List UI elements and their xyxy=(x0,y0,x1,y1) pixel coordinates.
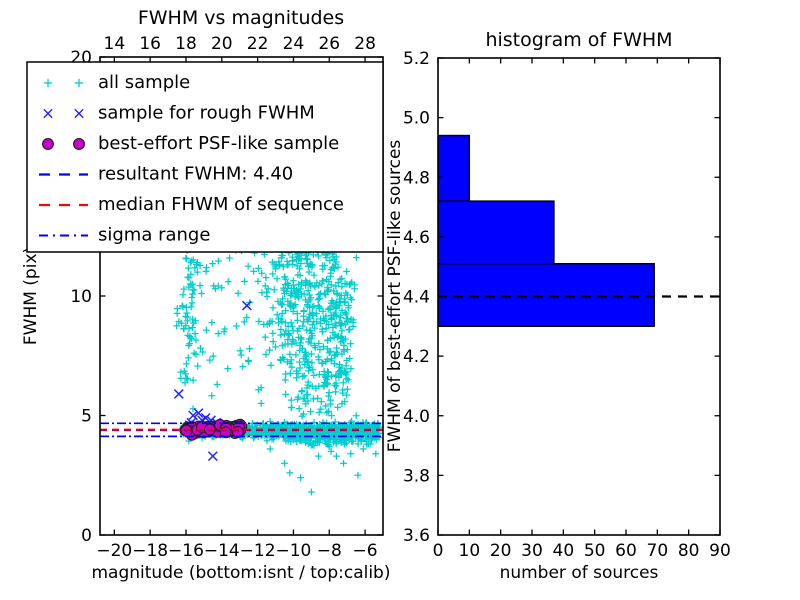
svg-text:16: 16 xyxy=(139,34,161,54)
svg-text:0: 0 xyxy=(81,526,92,546)
svg-text:28: 28 xyxy=(354,34,376,54)
legend-item-label: all sample xyxy=(98,72,190,93)
svg-text:22: 22 xyxy=(247,34,269,54)
svg-text:26: 26 xyxy=(318,34,340,54)
svg-text:0: 0 xyxy=(433,541,444,561)
svg-text:40: 40 xyxy=(553,541,575,561)
left-xtick-labels-top: 1416182022242628 xyxy=(104,34,376,54)
figure-canvas: FWHM vs magnitudes −20−18−16−14−12−10−8−… xyxy=(0,0,800,600)
svg-text:4.4: 4.4 xyxy=(403,288,430,308)
svg-text:5.0: 5.0 xyxy=(403,109,430,129)
svg-text:−12: −12 xyxy=(240,541,276,561)
legend[interactable]: all samplesample for rough FWHMbest-effo… xyxy=(27,62,383,252)
svg-text:24: 24 xyxy=(283,34,305,54)
svg-text:60: 60 xyxy=(615,541,637,561)
svg-text:90: 90 xyxy=(709,541,731,561)
svg-text:30: 30 xyxy=(521,541,543,561)
svg-text:3.6: 3.6 xyxy=(403,526,430,546)
svg-text:10: 10 xyxy=(70,287,92,307)
left-xtick-labels-bottom: −20−18−16−14−12−10−8−6 xyxy=(96,541,377,561)
legend-item-label: sample for rough FWHM xyxy=(98,103,315,124)
svg-text:18: 18 xyxy=(175,34,197,54)
right-panel-title: histogram of FWHM xyxy=(485,29,672,51)
svg-text:4.2: 4.2 xyxy=(403,347,430,367)
right-panel-histogram: histogram of FWHM 0102030405060708090 3.… xyxy=(385,29,731,583)
svg-text:−14: −14 xyxy=(204,541,240,561)
svg-text:70: 70 xyxy=(647,541,669,561)
right-yaxis-label: FWHM of best-effort PSF-like sources xyxy=(385,140,405,453)
legend-item-label: median FHWM of sequence xyxy=(98,194,344,215)
svg-text:−8: −8 xyxy=(317,541,342,561)
left-xaxis-label: magnitude (bottom:isnt / top:calib) xyxy=(92,563,391,583)
right-xaxis-label: number of sources xyxy=(500,563,659,583)
svg-text:−6: −6 xyxy=(353,541,378,561)
right-ytick-labels: 3.63.84.04.24.44.64.85.05.2 xyxy=(403,49,430,546)
svg-text:5.2: 5.2 xyxy=(403,49,430,69)
left-panel-title: FWHM vs magnitudes xyxy=(138,7,344,29)
svg-text:−16: −16 xyxy=(168,541,204,561)
legend-item-label: best-effort PSF-like sample xyxy=(98,133,339,154)
legend-item-label: resultant FWHM: 4.40 xyxy=(98,164,293,185)
svg-text:4.6: 4.6 xyxy=(403,228,430,248)
svg-text:−18: −18 xyxy=(132,541,168,561)
svg-text:14: 14 xyxy=(104,34,126,54)
svg-text:4.8: 4.8 xyxy=(403,168,430,188)
svg-text:4.0: 4.0 xyxy=(403,407,430,427)
svg-text:5: 5 xyxy=(81,407,92,427)
svg-text:20: 20 xyxy=(490,541,512,561)
matplotlib-figure: FWHM vs magnitudes −20−18−16−14−12−10−8−… xyxy=(0,0,800,600)
svg-text:−10: −10 xyxy=(275,541,311,561)
legend-box xyxy=(27,62,383,252)
right-xtick-labels: 0102030405060708090 xyxy=(433,541,731,561)
legend-item-label: sigma range xyxy=(98,225,210,246)
svg-text:50: 50 xyxy=(584,541,606,561)
left-yaxis-label: FWHM (pix) xyxy=(21,247,41,345)
svg-text:10: 10 xyxy=(459,541,481,561)
svg-text:−20: −20 xyxy=(96,541,132,561)
svg-text:3.8: 3.8 xyxy=(403,466,430,486)
svg-text:20: 20 xyxy=(211,34,233,54)
svg-text:80: 80 xyxy=(678,541,700,561)
